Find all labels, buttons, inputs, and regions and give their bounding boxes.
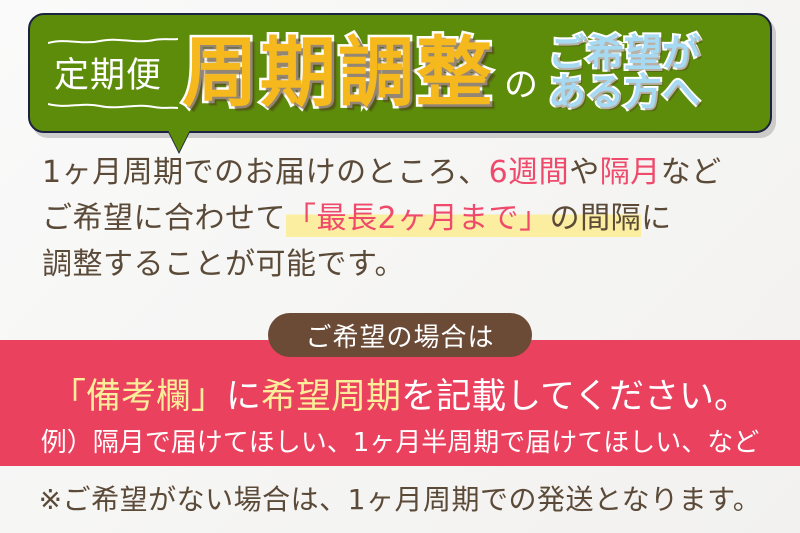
description-paragraph: 1ヶ月周期でのお届けのところ、6週間や隔月など ご希望に合わせて「最長2ヶ月まで…: [42, 150, 772, 288]
cta-p2: に: [226, 377, 261, 417]
cta-pink-band: 「備考欄」に希望周期を記載してください。 例）隔月で届けてほしい、1ヶ月半周期で…: [0, 340, 800, 466]
subscription-badge-label: 定期便: [54, 56, 162, 96]
desc-l3: 調整することが可能です。: [42, 247, 405, 282]
title-connector: の: [504, 57, 538, 106]
request-case-pill-label: ご希望の場合は: [305, 317, 494, 354]
request-case-pill: ご希望の場合は: [268, 313, 532, 357]
desc-l2-emphasis-tail: の間隔: [550, 201, 642, 237]
description-line-2: ご希望に合わせて「最長2ヶ月まで」の間隔に: [42, 196, 772, 242]
desc-l2-emphasis: 「最長2ヶ月まで」: [286, 201, 550, 237]
desc-l1-p3: など: [661, 155, 722, 190]
wish-line-1: ご希望が: [548, 34, 700, 73]
wave-rule-top-icon: [48, 37, 178, 46]
desc-l1-p2: や: [569, 155, 600, 190]
footer-note: ※ご希望がない場合は、1ヶ月周期での発送となります。: [0, 478, 800, 518]
desc-l2-p2: に: [641, 201, 672, 236]
desc-l1-highlight-1: 6週間: [489, 155, 570, 190]
cta-p4: を記載してください。: [401, 377, 749, 417]
wave-rule-bottom-icon: [48, 101, 178, 110]
speech-bubble-tail-icon: [168, 130, 190, 152]
cta-example-line: 例）隔月で届けてほしい、1ヶ月半周期で届けてほしい、など: [0, 422, 800, 459]
desc-l1-highlight-2: 隔月: [600, 155, 661, 190]
desc-l1-p1: 1ヶ月周期でのお届けのところ、: [42, 155, 489, 190]
subscription-badge: 定期便: [50, 35, 166, 111]
description-line-3: 調整することが可能です。: [42, 242, 772, 288]
main-title: 周期調整: [182, 35, 494, 111]
description-line-1: 1ヶ月周期でのお届けのところ、6週間や隔月など: [42, 150, 772, 196]
wish-audience-block: ご希望が ある方へ: [548, 34, 700, 112]
cta-field-name: 「備考欄」: [51, 377, 226, 417]
cta-cycle-term: 希望周期: [261, 377, 401, 417]
header-speech-box: 定期便 周期調整 の ご希望が ある方へ: [28, 13, 772, 133]
cta-main-line: 「備考欄」に希望周期を記載してください。: [0, 368, 800, 419]
wish-line-2: ある方へ: [548, 73, 700, 112]
promo-banner: 定期便 周期調整 の ご希望が ある方へ 1ヶ月周期でのお届けのところ、6週間や…: [0, 0, 800, 533]
desc-l2-p1: ご希望に合わせて: [42, 201, 286, 236]
header-content: 定期便 周期調整 の ご希望が ある方へ: [28, 13, 772, 133]
